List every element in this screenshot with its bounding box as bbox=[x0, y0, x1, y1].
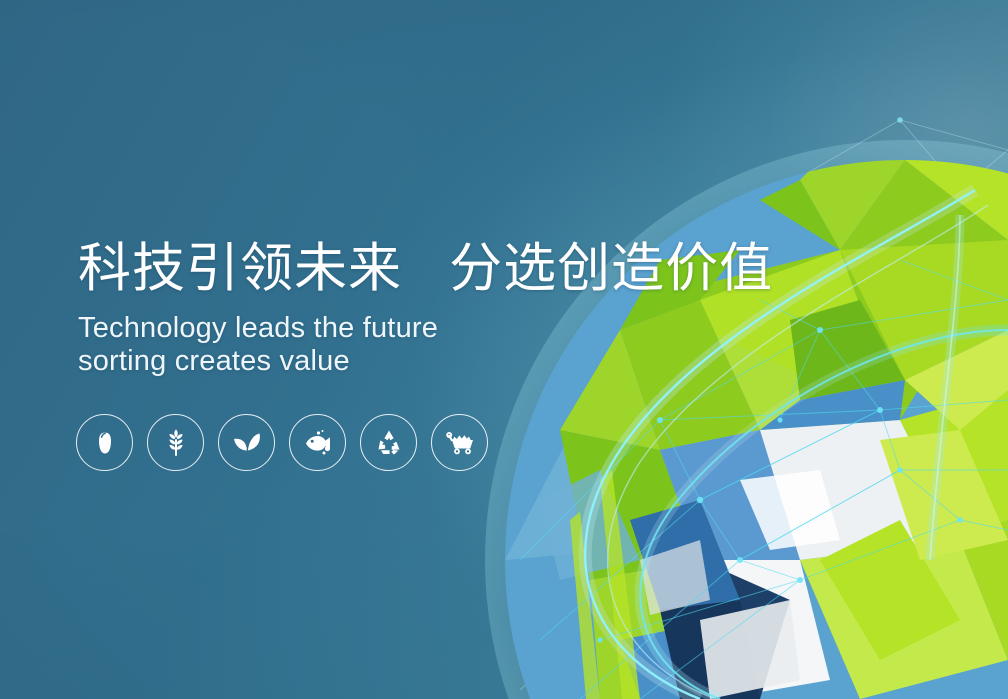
subtitle-line-2: sorting creates value bbox=[78, 345, 778, 378]
wheat-glyph bbox=[160, 427, 192, 459]
page-title: 科技引领未来 分选创造价值 bbox=[78, 238, 778, 300]
tea-leaf-icon[interactable] bbox=[218, 414, 275, 471]
fish-glyph bbox=[302, 428, 334, 458]
mining-cart-icon[interactable] bbox=[431, 414, 488, 471]
subtitle-line-1: Technology leads the future bbox=[78, 312, 778, 345]
rice-grain-glyph bbox=[90, 428, 120, 458]
rice-grain-icon[interactable] bbox=[76, 414, 133, 471]
industry-icon-row bbox=[76, 414, 488, 471]
tea-leaf-glyph bbox=[230, 428, 264, 458]
wheat-icon[interactable] bbox=[147, 414, 204, 471]
hero-banner: 科技引领未来 分选创造价值 Technology leads the futur… bbox=[0, 0, 1008, 699]
low-poly-globe bbox=[505, 120, 1008, 699]
recycle-glyph bbox=[374, 428, 404, 458]
page-subtitle: Technology leads the future sorting crea… bbox=[78, 312, 778, 378]
mining-cart-glyph bbox=[443, 428, 477, 458]
hero-copy: 科技引领未来 分选创造价值 Technology leads the futur… bbox=[78, 238, 778, 378]
fish-icon[interactable] bbox=[289, 414, 346, 471]
recycle-icon[interactable] bbox=[360, 414, 417, 471]
